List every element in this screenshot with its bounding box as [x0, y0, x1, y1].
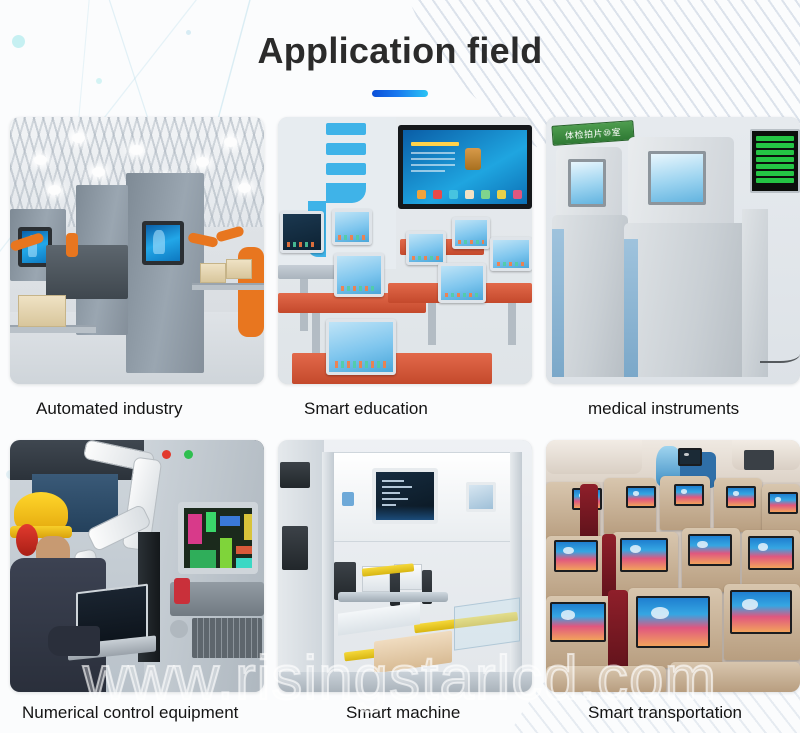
machine-post [510, 452, 522, 680]
cabin-monitor [678, 448, 702, 466]
ceiling-lamp [196, 157, 209, 167]
wall-accent-bar [326, 163, 366, 175]
page-title: Application field [0, 28, 800, 74]
ife-screen [726, 486, 756, 508]
led-row [756, 157, 794, 162]
wall-accent-bar [326, 143, 366, 155]
carton-box [18, 295, 66, 327]
ife-screen [748, 536, 794, 570]
card-caption: Smart machine [278, 692, 532, 724]
led-row [756, 136, 794, 141]
ceiling-lamp [72, 133, 85, 143]
control-knob [170, 620, 188, 638]
led-row [756, 164, 794, 169]
adjacent-machine-screen [280, 462, 310, 488]
display-icon [433, 190, 442, 199]
ife-screen [620, 538, 668, 572]
work-tray [374, 631, 452, 674]
card-grid-row-2: Numerical control equipment [10, 440, 790, 724]
ife-screen [550, 602, 606, 642]
machine-base [278, 672, 532, 692]
student-tablet-screen [452, 217, 490, 249]
led-row [756, 143, 794, 148]
conveyor-belt [192, 283, 264, 290]
overhead-bin [546, 440, 642, 474]
industrial-touch-screen [142, 221, 184, 265]
kiosk-side-panel [624, 239, 638, 377]
safety-glass-cover [454, 597, 520, 650]
aircraft-seat [670, 662, 800, 692]
self-service-kiosk [624, 223, 748, 377]
display-line [411, 158, 455, 160]
scene-smart-education [278, 117, 532, 384]
card-automated-industry[interactable]: Automated industry [10, 117, 264, 420]
kiosk-side-panel [552, 229, 564, 377]
indicator-lamp-red [162, 450, 171, 459]
display-jar-graphic [465, 148, 481, 170]
ife-screen [636, 596, 710, 648]
display-icon [497, 190, 506, 199]
scene-smart-transportation [546, 440, 800, 692]
card-caption: medical instruments [546, 384, 800, 420]
indicator-lamp-green [184, 450, 193, 459]
card-smart-transportation[interactable]: Smart transportation [546, 440, 800, 724]
ceiling-lamp [34, 155, 47, 165]
robot-arm [66, 233, 78, 257]
emergency-stop-button[interactable] [174, 578, 190, 604]
wall-accent-bar [326, 183, 366, 203]
card-image-automated-industry[interactable] [10, 117, 264, 384]
hmi-touch-panel[interactable] [466, 482, 496, 512]
desk-leg [428, 303, 436, 345]
card-caption: Numerical control equipment [10, 692, 264, 724]
card-numerical-control-equipment[interactable]: Numerical control equipment [10, 440, 264, 724]
linear-rail [338, 592, 448, 602]
led-row [756, 171, 794, 176]
worker-arm [48, 626, 100, 656]
kiosk-screen [568, 159, 606, 207]
display-icon [513, 190, 522, 199]
ear-protection [16, 524, 38, 556]
card-image-numerical-control-equipment[interactable] [10, 440, 264, 692]
ceiling-lamp [224, 137, 237, 147]
student-tablet-screen [406, 231, 446, 265]
ife-screen [688, 534, 732, 566]
carton-box [200, 263, 226, 283]
page-header: Application field [0, 28, 800, 97]
scene-numerical-control [10, 440, 264, 692]
display-icon [481, 190, 490, 199]
carton-box [226, 259, 252, 279]
status-indicator [342, 492, 354, 506]
title-underline-accent [372, 90, 428, 97]
student-tablet-screen [332, 209, 372, 245]
desk-leg [508, 303, 516, 345]
led-row [756, 178, 794, 183]
wall-accent-bar [326, 123, 366, 135]
card-image-smart-transportation[interactable] [546, 440, 800, 692]
cnc-keypad [192, 618, 262, 658]
application-field-page: Application field [0, 0, 800, 733]
led-row [756, 150, 794, 155]
card-caption: Automated industry [10, 384, 264, 420]
display-icon [449, 190, 458, 199]
student-tablet-screen [326, 319, 396, 375]
card-grid-row-1: Automated industry [10, 117, 790, 420]
display-line [411, 164, 455, 166]
power-cable [760, 345, 800, 363]
card-image-medical-instruments[interactable]: 体检拍片⑩室 [546, 117, 800, 384]
student-tablet-screen [334, 253, 384, 297]
ife-screen [554, 540, 598, 572]
card-caption: Smart transportation [546, 692, 800, 724]
equipment-cabinet [126, 173, 204, 373]
conveyor-plate [338, 602, 420, 636]
ceiling-lamp [48, 185, 61, 195]
scene-smart-machine [278, 440, 532, 692]
machine-monitor [372, 468, 438, 524]
display-title-text [411, 142, 459, 146]
ife-screen [768, 492, 798, 514]
room-sign: 体检拍片⑩室 [551, 120, 634, 146]
card-image-smart-education[interactable] [278, 117, 532, 384]
ceiling-lamp [238, 183, 251, 193]
desk-leg [312, 313, 320, 357]
machine-post [322, 452, 334, 680]
robot-arm [215, 225, 245, 242]
card-medical-instruments[interactable]: 体检拍片⑩室 [546, 117, 800, 420]
student-tablet-screen [438, 263, 486, 303]
display-icon [465, 190, 474, 199]
led-queue-board [750, 129, 800, 193]
student-tablet-screen [280, 211, 324, 253]
ceiling-lamp [130, 145, 143, 155]
ife-screen [674, 484, 704, 506]
display-line [411, 170, 445, 172]
scene-automated-industry [10, 117, 264, 384]
adjacent-machine-module [282, 526, 308, 570]
card-smart-education[interactable]: Smart education [278, 117, 532, 420]
aircraft-seat [546, 666, 666, 692]
card-smart-machine[interactable]: Smart machine [278, 440, 532, 724]
cabin-monitor [744, 450, 774, 470]
student-tablet-screen [490, 237, 532, 271]
card-caption: Smart education [278, 384, 532, 420]
ife-screen [730, 590, 792, 634]
card-image-smart-machine[interactable] [278, 440, 532, 692]
seat-trim [608, 590, 628, 678]
seat-trim [580, 484, 598, 540]
hmi-control-screen [178, 502, 258, 574]
xray-tunnel [46, 245, 128, 299]
display-line [411, 152, 455, 154]
ife-screen [626, 486, 656, 508]
display-icon [417, 190, 426, 199]
ceiling-lamp [92, 167, 105, 177]
scene-medical-instruments: 体检拍片⑩室 [546, 117, 800, 384]
classroom-wall-display [398, 125, 532, 209]
kiosk-screen [648, 151, 706, 205]
